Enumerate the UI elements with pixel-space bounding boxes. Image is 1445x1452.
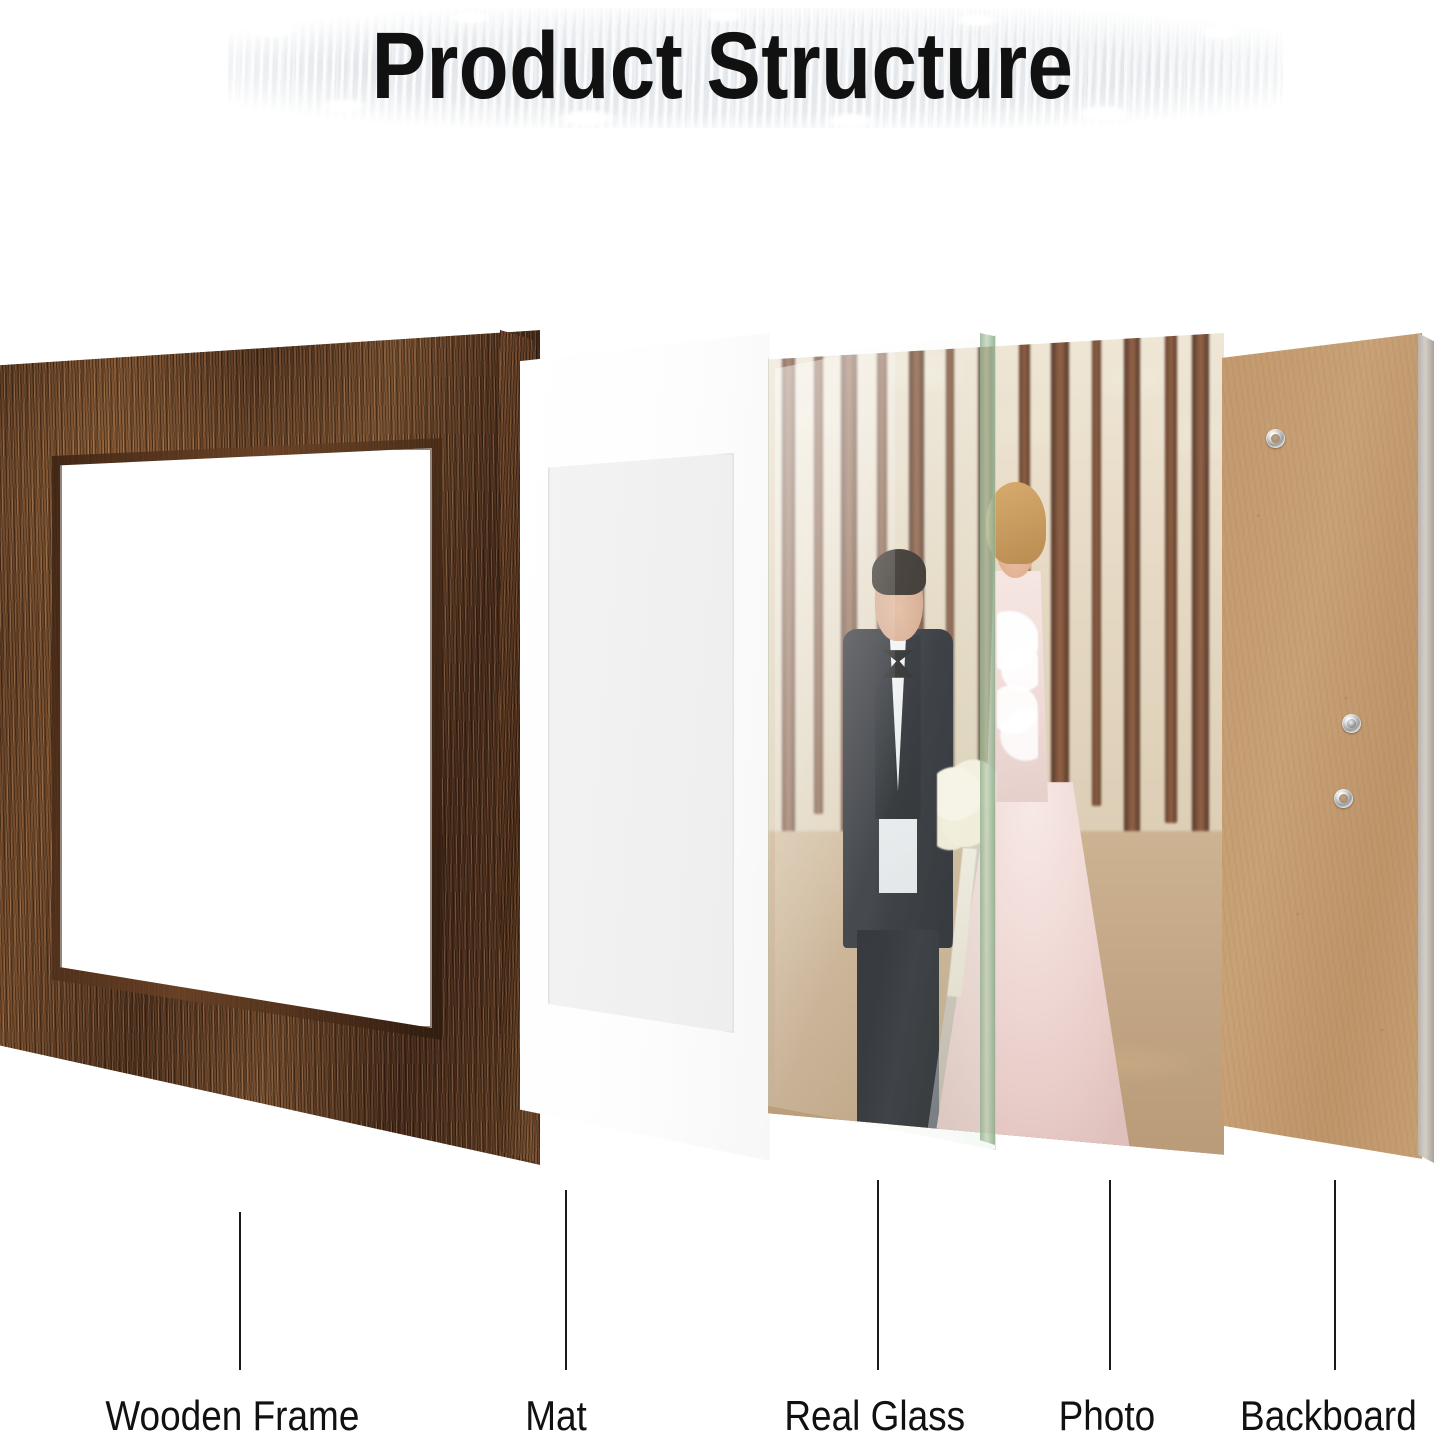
backboard-eyelet-bottom — [1334, 789, 1353, 808]
leader-line-real-glass — [877, 1180, 879, 1370]
exploded-view-diagram: Wooden Frame Mat Real Glass Photo Backbo… — [0, 0, 1445, 1452]
wooden-frame-opening — [60, 448, 432, 1028]
layer-real-glass — [768, 330, 996, 1150]
label-photo: Photo — [1059, 1392, 1156, 1440]
label-wooden-frame: Wooden Frame — [105, 1392, 359, 1440]
label-backboard: Backboard — [1240, 1392, 1417, 1440]
backboard-eyelet-middle — [1342, 714, 1361, 733]
label-real-glass: Real Glass — [784, 1392, 965, 1440]
backboard-depth-edge — [1418, 333, 1434, 1163]
label-mat: Mat — [525, 1392, 587, 1440]
leader-line-photo — [1109, 1180, 1111, 1370]
layer-backboard — [1222, 333, 1422, 1163]
layer-mat-board — [520, 333, 770, 1161]
layer-wooden-frame — [0, 330, 540, 1165]
leader-line-backboard — [1334, 1180, 1336, 1370]
backboard-eyelet-top — [1266, 429, 1285, 448]
leader-line-mat — [565, 1190, 567, 1370]
glass-right-edge — [980, 333, 995, 1145]
mat-window-opening — [548, 453, 734, 1033]
leader-line-wooden-frame — [239, 1212, 241, 1370]
